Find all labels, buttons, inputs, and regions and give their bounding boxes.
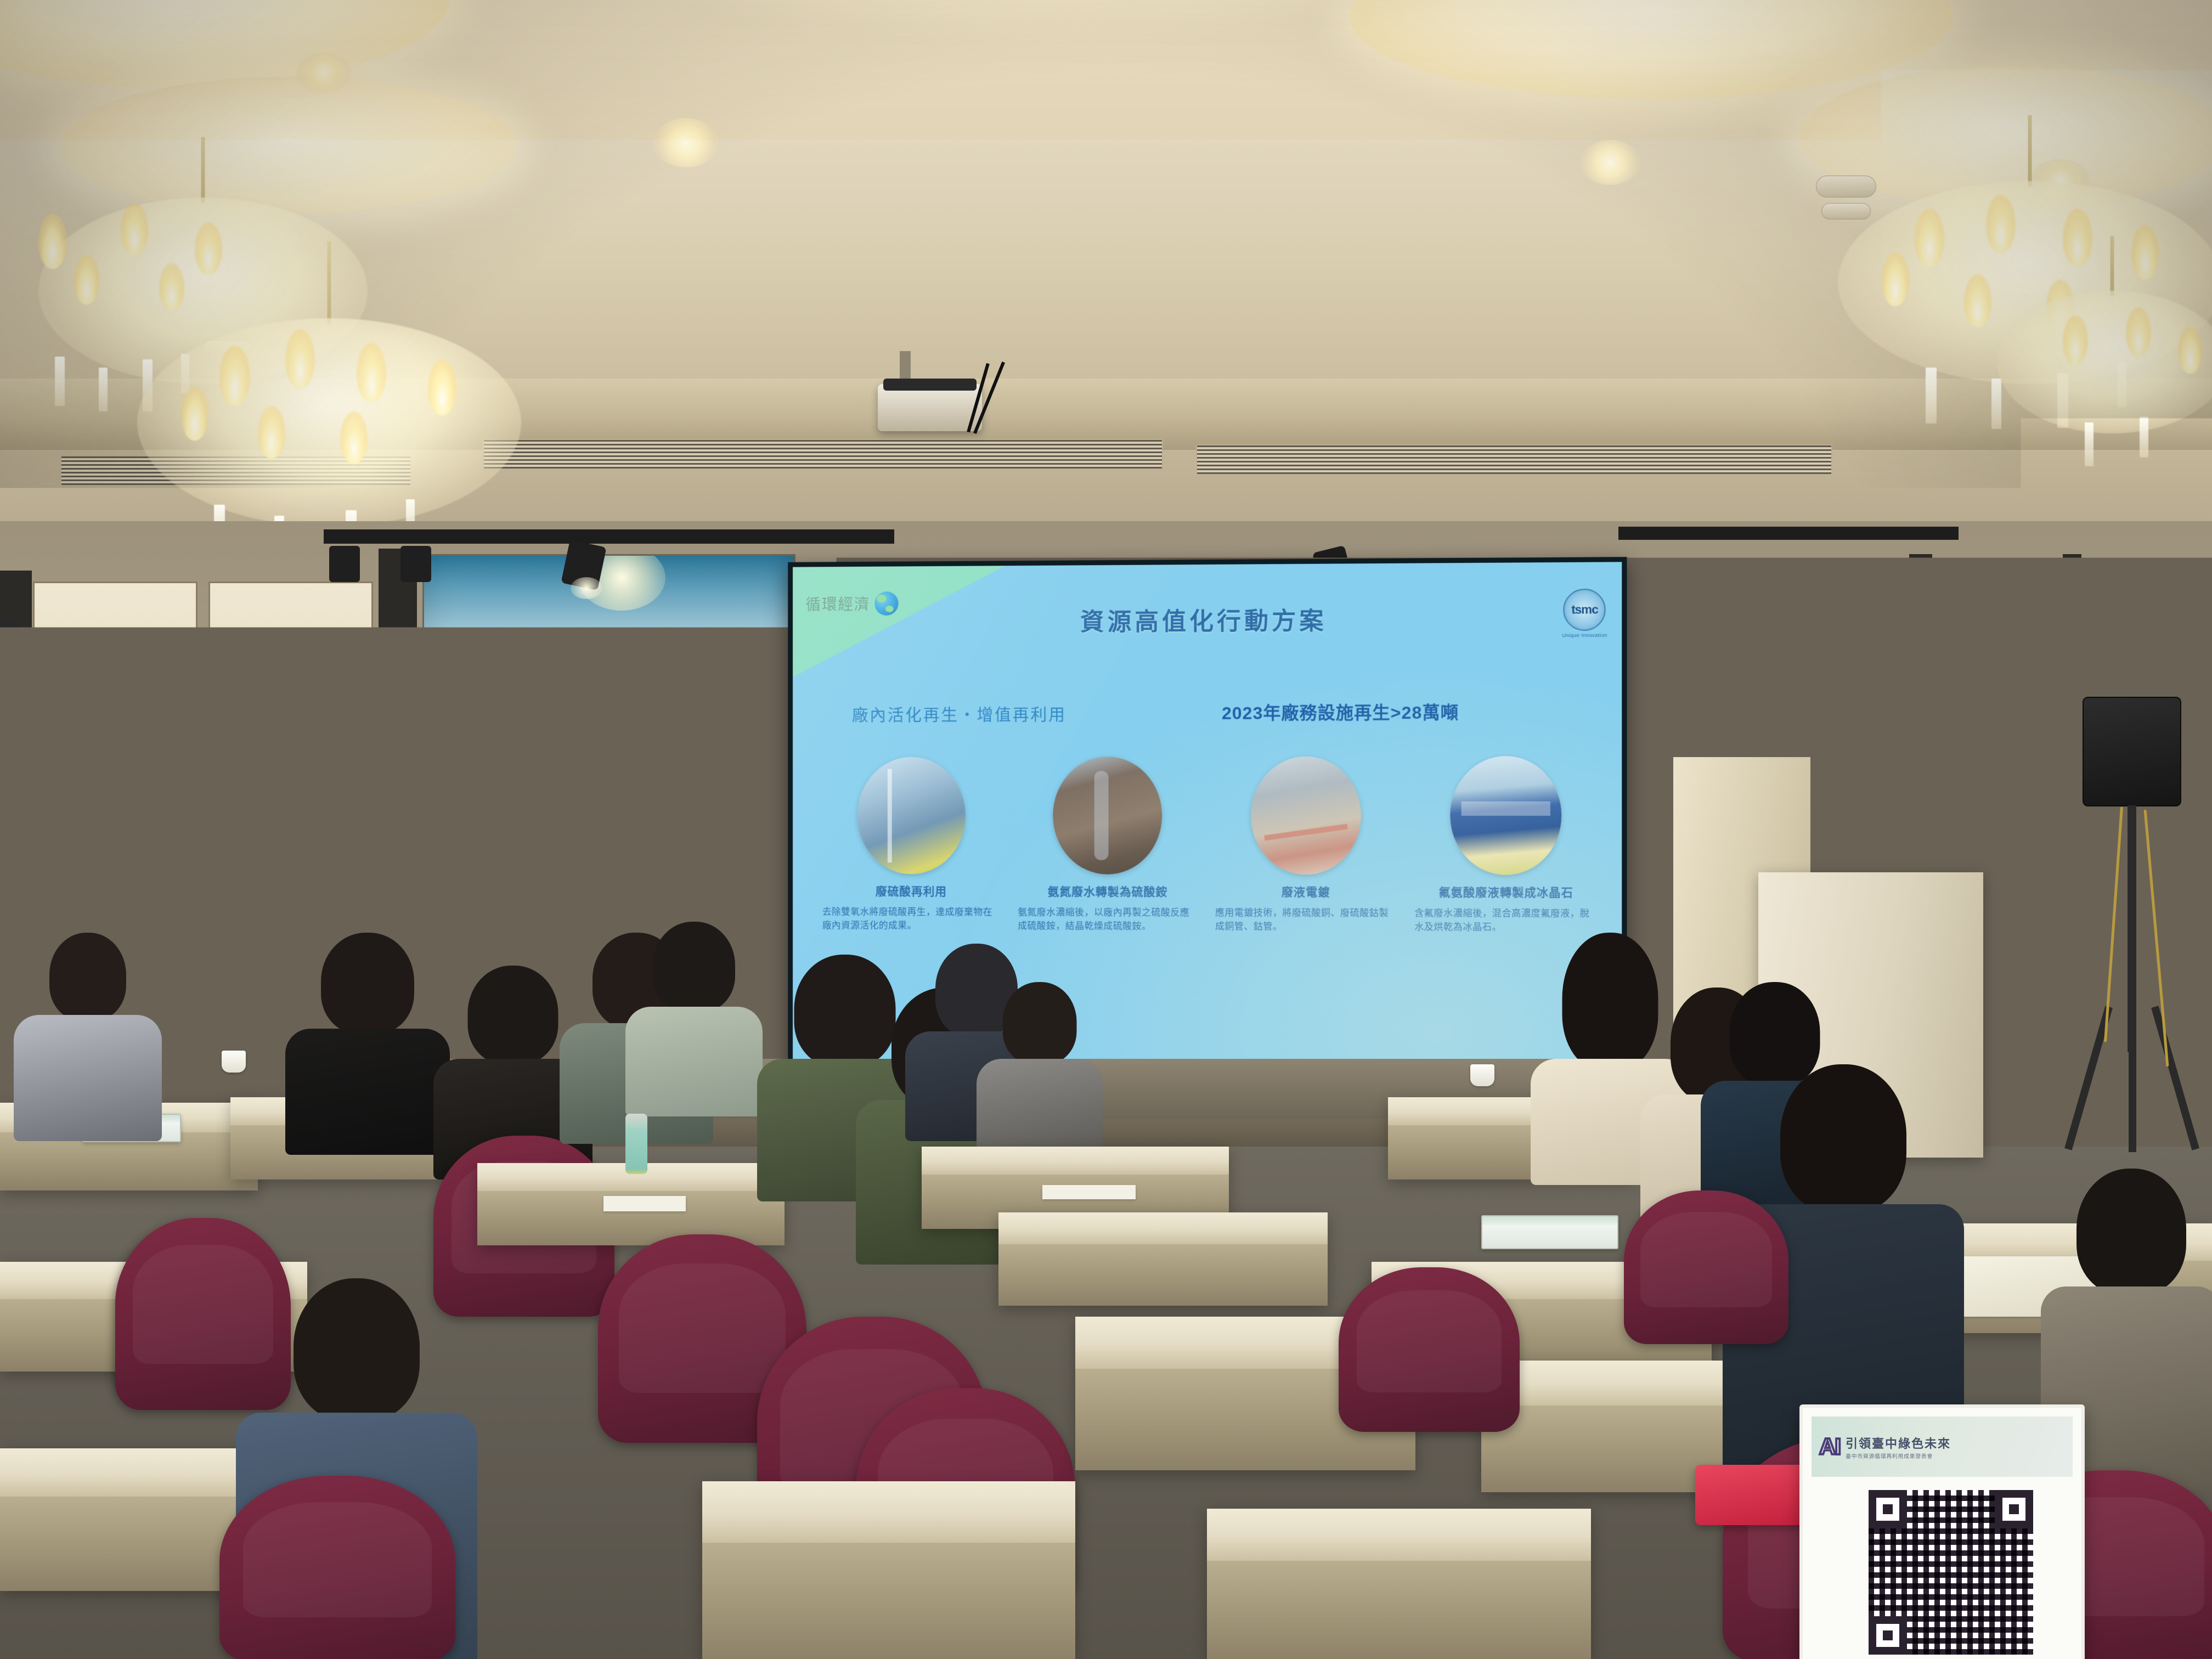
column-heading: 氟氨酸廢液轉製成冰晶石 xyxy=(1438,884,1573,901)
pa-speaker-right xyxy=(2063,697,2200,1152)
standee-subtitle: 臺中市資源循環再利用成果發表會 xyxy=(1846,1452,1951,1460)
tsmc-tagline: Unique Innovation xyxy=(1562,633,1607,638)
standee-ai-logo: AI xyxy=(1819,1434,1840,1460)
infinity-loop-icon xyxy=(484,814,742,923)
banquet-chair xyxy=(1624,1190,1788,1344)
stage-spotlight xyxy=(329,546,360,582)
hvac-vent xyxy=(1196,444,1832,475)
tsmc-wordmark: tsmc xyxy=(1565,602,1605,617)
slide-column: 廢液電鍍 應用電鍍技術，將廢硫酸銅、廢硫酸鈷製成銅管、鈷管。 xyxy=(1211,756,1401,934)
audience-member xyxy=(977,982,1103,1147)
slide-column: 氨氮廢水轉製為硫酸銨 氨氮廢水濃縮後，以廠內再製之硫酸反應成硫酸銨，結晶乾燥成硫… xyxy=(1014,757,1201,933)
column-thumbnail xyxy=(1053,757,1162,874)
pa-speaker-left xyxy=(0,620,19,708)
crystal-chandelier xyxy=(1997,236,2212,543)
glasses-icon xyxy=(1971,744,2023,752)
banquet-table xyxy=(1207,1509,1591,1659)
tsmc-mark: tsmc xyxy=(1564,589,1606,631)
column-heading: 廢硫酸再利用 xyxy=(876,883,947,899)
column-body: 氨氮廢水濃縮後，以廠內再製之硫酸反應成硫酸銨，結晶乾燥成硫酸銨。 xyxy=(1018,906,1198,933)
lighting-truss xyxy=(1618,527,1959,540)
lighting-truss xyxy=(324,529,894,544)
water-bottle xyxy=(625,1114,647,1174)
handout-paper xyxy=(1042,1185,1136,1199)
recessed-downlight xyxy=(296,52,351,93)
column-body: 去除雙氧水將廢硫酸再生，達成廢棄物在廠內資源活化的成果。 xyxy=(822,905,1001,933)
column-body: 應用電鍍技術，將廢硫酸銅、廢硫酸鈷製成銅管、鈷管。 xyxy=(1215,906,1397,934)
wall-sign-epb: 臺中市政府環境保護局 Environmental Protection Bure… xyxy=(1632,571,1923,752)
recessed-downlight xyxy=(653,118,719,167)
projector-bracket xyxy=(883,379,977,391)
placard-line1: 聯華氣體工業 xyxy=(1553,1317,1612,1327)
banquet-table xyxy=(998,1212,1328,1306)
ceiling-projector xyxy=(878,384,982,431)
banquet-table xyxy=(702,1481,1075,1659)
paper-cup xyxy=(1470,1064,1494,1086)
placard-line1: 水美企業 xyxy=(1969,1300,2008,1311)
slide-column: 廢硫酸再利用 去除雙氧水將廢硫酸再生，達成廢棄物在廠內資源活化的成果。 xyxy=(819,757,1004,933)
column-thumbnail xyxy=(1251,757,1361,875)
handout-paper xyxy=(603,1196,686,1211)
ceiling-cove-light xyxy=(0,0,450,88)
column-thumbnail xyxy=(1451,756,1562,875)
banquet-chair xyxy=(219,1476,455,1659)
column-thumbnail xyxy=(857,757,966,874)
stage-spotlight xyxy=(400,546,431,582)
circuit-trace-icon xyxy=(599,668,676,742)
audience-member xyxy=(11,933,165,1130)
column-body: 含氟廢水濃縮後，混合高濃度氟廢液，脫水及烘乾為冰晶石。 xyxy=(1414,907,1598,934)
slide-metric-highlight: 2023年廠務設施再生>28萬噸 xyxy=(1222,699,1459,725)
column-heading: 氨氮廢水轉製為硫酸銨 xyxy=(1048,883,1168,900)
placard-line2: 股份有限公司 xyxy=(1553,1328,1612,1339)
slide-title: 資源高值化行動方案 xyxy=(793,600,1622,639)
table-placard: 中龍實業 xyxy=(1481,1215,1618,1249)
standee-title: 引領臺中綠色未來 xyxy=(1846,1434,1951,1452)
placard-line1: 中龍實業 xyxy=(1530,1226,1570,1238)
slide-subtitle-left: 廠內活化再生‧增值再利用 xyxy=(852,701,1066,726)
column-heading: 廢液電鍍 xyxy=(1282,883,1330,900)
tsmc-logo: tsmc Unique Innovation xyxy=(1562,589,1607,638)
slide-columns: 廢硫酸再利用 去除雙氧水將廢硫酸再生，達成廢棄物在廠內資源活化的成果。 氨氮廢水… xyxy=(819,756,1601,934)
banquet-chair xyxy=(1339,1267,1520,1432)
ceiling-cove-light xyxy=(1350,0,1953,99)
slide-column: 氟氨酸廢液轉製成冰晶石 含氟廢水濃縮後，混合高濃度氟廢液，脫水及烘乾為冰晶石。 xyxy=(1410,756,1601,934)
spotlight-glow xyxy=(571,577,602,599)
conference-room-photo: 臺中市政府環境保護局 Environmental Protection Bure… xyxy=(0,0,2212,1659)
wall-sign-en: Environmental Protection Bureau, Taichun… xyxy=(1651,628,1877,636)
standee-header: AI 引領臺中綠色未來 臺中市資源循環再利用成果發表會 xyxy=(1812,1417,2073,1477)
hvac-vent xyxy=(483,439,1163,470)
banner-ai-text: AI xyxy=(691,654,795,753)
qr-code-standee: AI 引領臺中綠色未來 臺中市資源循環再利用成果發表會 xyxy=(1799,1404,2085,1659)
recessed-downlight xyxy=(1580,140,1640,185)
qr-code xyxy=(1869,1490,2033,1655)
wall-sign-zh: 臺中市政府環境保護局 xyxy=(1650,594,1923,630)
paper-cup xyxy=(222,1051,246,1073)
audience-member xyxy=(625,922,763,1108)
audience-member xyxy=(285,933,450,1141)
